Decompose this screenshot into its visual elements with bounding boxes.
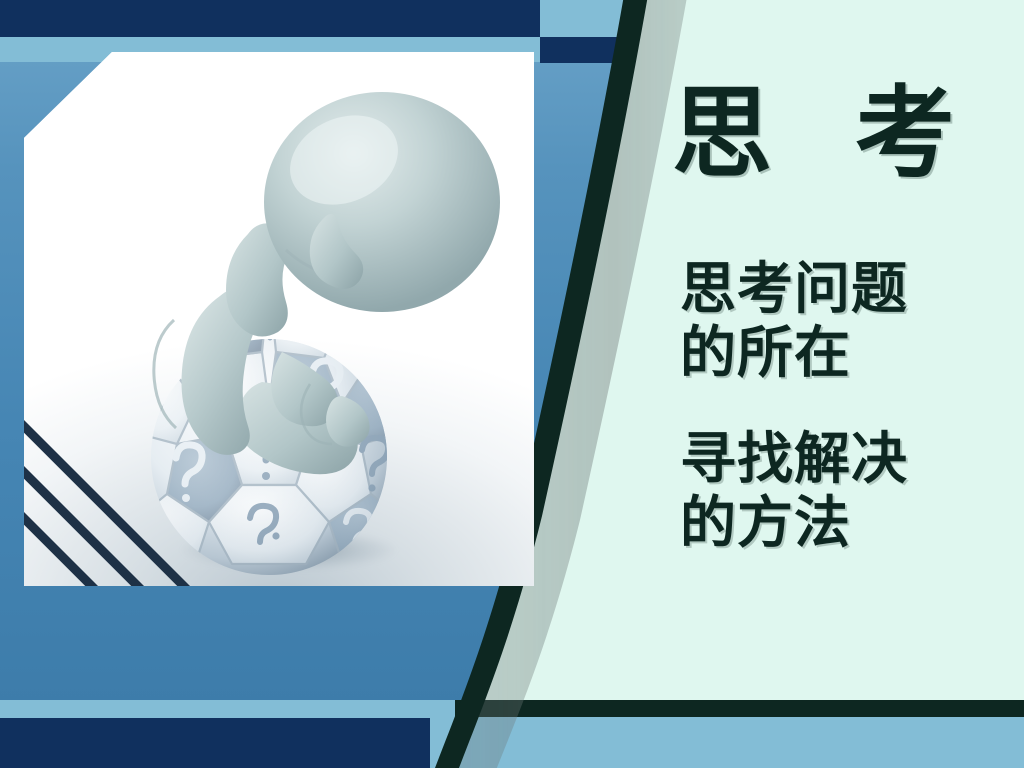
presentation-slide: 思 考 思考问题 的所在 寻找解决 的方法 [0, 0, 1024, 768]
thinker-figure [154, 92, 500, 474]
body-block-2-line-2: 的方法 [680, 492, 1000, 556]
body-block-1: 思考问题 的所在 [680, 258, 1000, 386]
bottom-right-dark-rule [455, 700, 1024, 717]
body-block-2-line-1: 寻找解决 [680, 428, 1000, 492]
slide-title: 思 考 [672, 78, 1012, 190]
photo-card [24, 52, 534, 586]
body-block-2: 寻找解决 的方法 [680, 428, 1000, 556]
bottom-right-light-blue-band [430, 716, 1024, 768]
body-block-1-line-1: 思考问题 [680, 258, 1000, 322]
body-block-1-line-2: 的所在 [680, 322, 1000, 386]
top-navy-band-left [0, 0, 540, 37]
